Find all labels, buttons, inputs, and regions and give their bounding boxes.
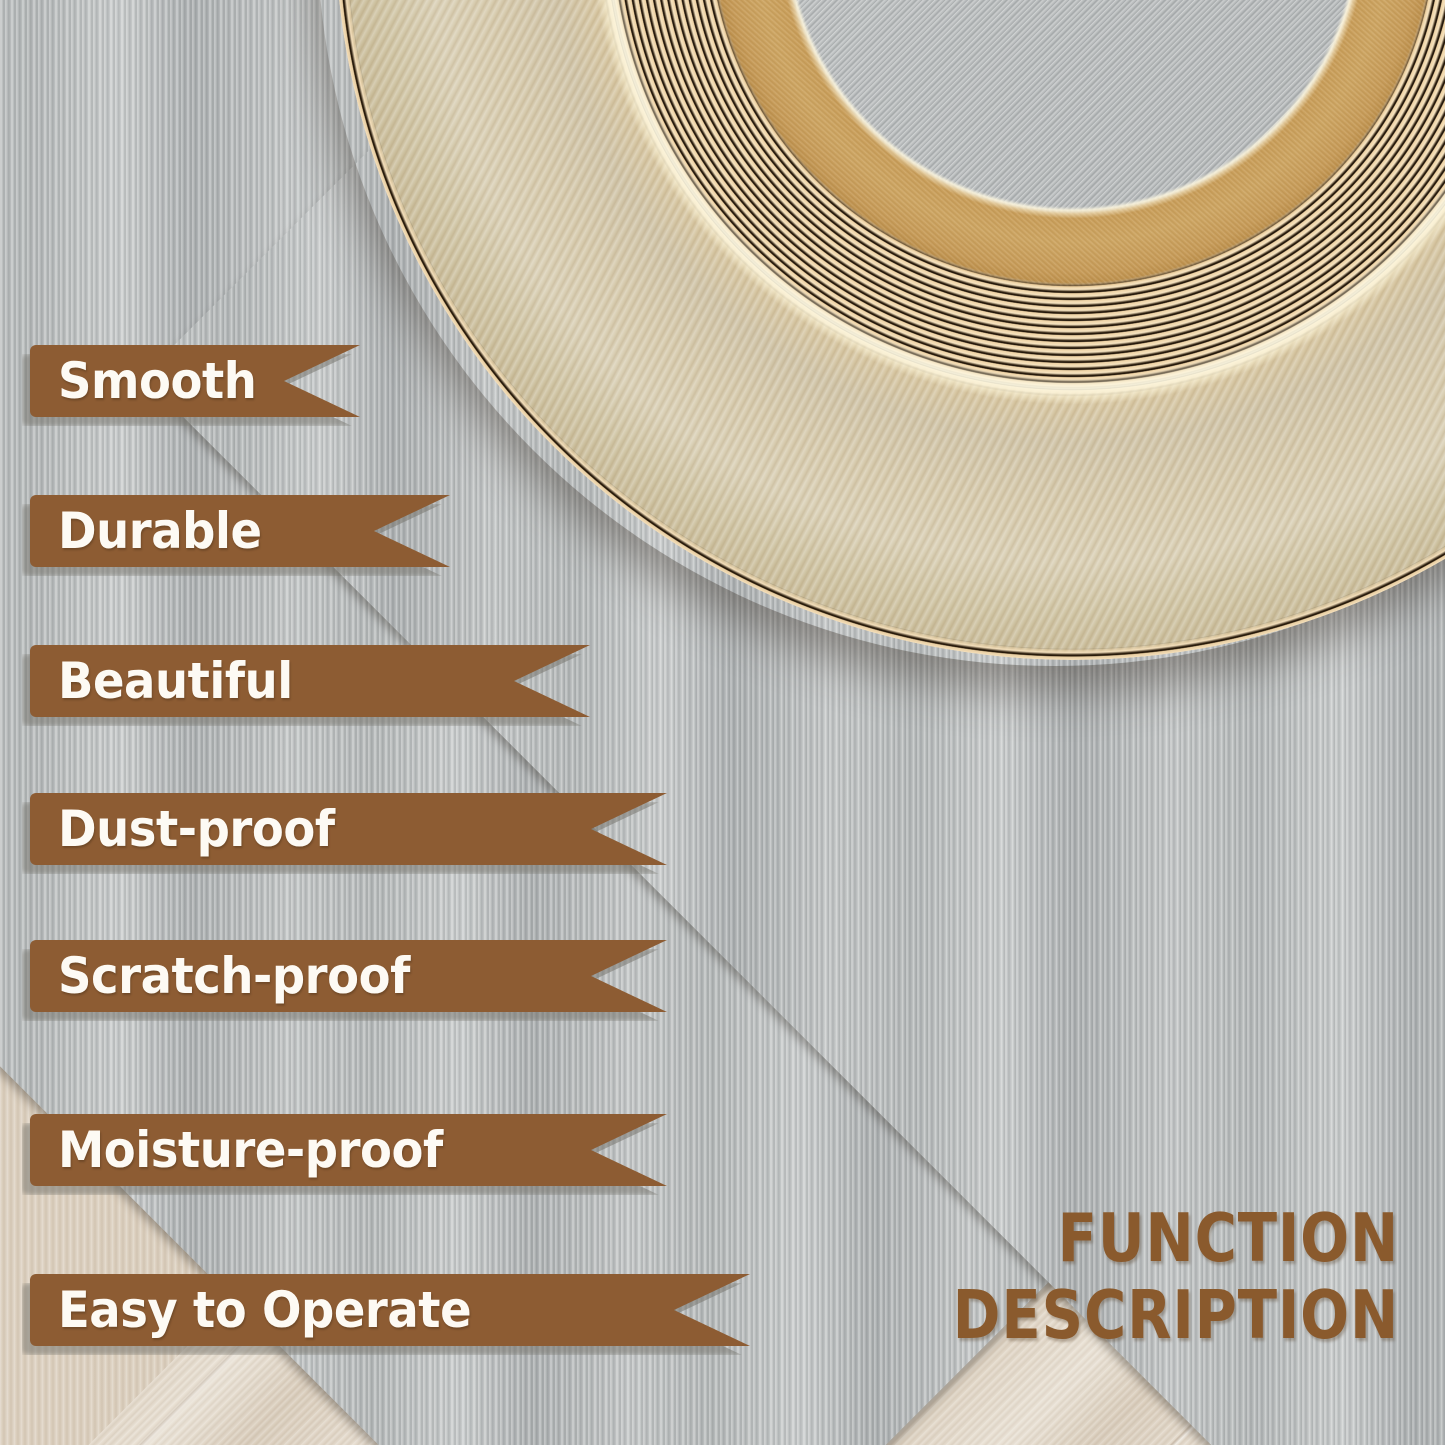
feature-label: Moisture-proof (58, 1125, 443, 1175)
edge-banding-tape-roll (335, 0, 1445, 660)
feature-label: Durable (58, 506, 262, 556)
feature-label: Smooth (58, 356, 256, 406)
feature-label: Dust-proof (58, 804, 335, 854)
feature-label: Easy to Operate (58, 1285, 471, 1335)
roll-center-hole (335, 0, 1445, 660)
feature-banner: Easy to Operate (30, 1274, 750, 1346)
feature-label: Scratch-proof (58, 951, 410, 1001)
product-feature-graphic: Smooth Durable Beautiful Dust-proof Scra… (0, 0, 1445, 1445)
heading-line-2: DESCRIPTION (953, 1277, 1399, 1353)
feature-banner: Smooth (30, 345, 360, 417)
section-heading: FUNCTION DESCRIPTION (953, 1200, 1399, 1353)
feature-banner: Moisture-proof (30, 1114, 667, 1186)
feature-label: Beautiful (58, 656, 293, 706)
feature-banner: Dust-proof (30, 793, 667, 865)
feature-banner: Beautiful (30, 645, 590, 717)
feature-banner: Durable (30, 495, 450, 567)
heading-line-1: FUNCTION (953, 1200, 1399, 1276)
feature-banner: Scratch-proof (30, 940, 667, 1012)
